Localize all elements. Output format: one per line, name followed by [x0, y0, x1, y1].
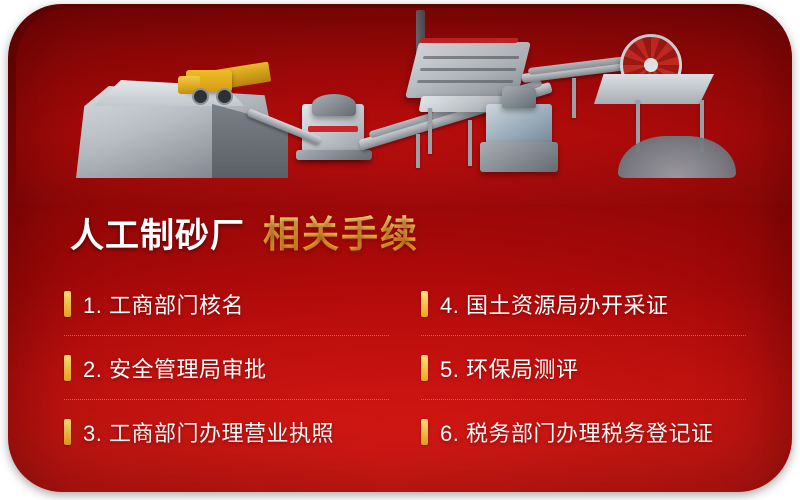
list-item: 6. 税务部门办理税务登记证 [421, 400, 754, 464]
impact-crusher-icon [486, 104, 552, 144]
list-item: 2. 安全管理局审批 [64, 336, 397, 400]
list-item: 3. 工商部门办理营业执照 [64, 400, 397, 464]
list-bullet-icon [421, 355, 428, 381]
conveyor-support-icon [468, 120, 472, 166]
list-item: 5. 环保局测评 [421, 336, 754, 400]
production-line-illustration [16, 8, 792, 204]
conveyor-support-icon [416, 134, 420, 168]
list-item: 1. 工商部门核名 [64, 272, 397, 336]
list-bullet-icon [64, 419, 71, 445]
list-item-label: 3. 工商部门办理营业执照 [83, 416, 334, 448]
procedure-list: 1. 工商部门核名 4. 国土资源局办开采证 2. 安全管理局审批 5. 环保局… [64, 272, 754, 464]
impact-crusher-hopper-icon [502, 86, 536, 108]
jaw-crusher-base-icon [296, 150, 372, 160]
title-accent-text: 相关手续 [263, 204, 419, 258]
list-bullet-icon [64, 291, 71, 317]
conveyor-support-icon [572, 78, 576, 118]
list-item-label: 5. 环保局测评 [440, 352, 578, 384]
poster-root: 人工制砂厂 相关手续 1. 工商部门核名 4. 国土资源局办开采证 2. 安全管… [0, 0, 800, 500]
list-item-label: 1. 工商部门核名 [83, 288, 244, 320]
screen-mesh-icon [417, 80, 514, 83]
impact-crusher-base-icon [480, 142, 558, 172]
jaw-crusher-stripe-icon [308, 126, 358, 132]
screen-mesh-icon [423, 56, 520, 59]
list-bullet-icon [64, 355, 71, 381]
jaw-crusher-hopper-icon [312, 94, 356, 116]
screen-support-icon [428, 108, 432, 154]
sand-washer-tub-icon [594, 74, 714, 104]
dump-truck-wheel-icon [216, 88, 233, 105]
list-item-label: 4. 国土资源局办开采证 [440, 288, 668, 320]
list-bullet-icon [421, 291, 428, 317]
screen-stripe-icon [419, 38, 518, 43]
screen-mesh-icon [420, 68, 517, 71]
list-item-label: 6. 税务部门办理税务登记证 [440, 416, 713, 448]
red-panel: 人工制砂厂 相关手续 1. 工商部门核名 4. 国土资源局办开采证 2. 安全管… [8, 4, 792, 492]
poster-title: 人工制砂厂 相关手续 [70, 204, 419, 258]
list-item: 4. 国土资源局办开采证 [421, 272, 754, 336]
title-main-text: 人工制砂厂 [70, 208, 245, 257]
dump-truck-wheel-icon [192, 88, 209, 105]
list-item-label: 2. 安全管理局审批 [83, 352, 266, 384]
list-bullet-icon [421, 419, 428, 445]
